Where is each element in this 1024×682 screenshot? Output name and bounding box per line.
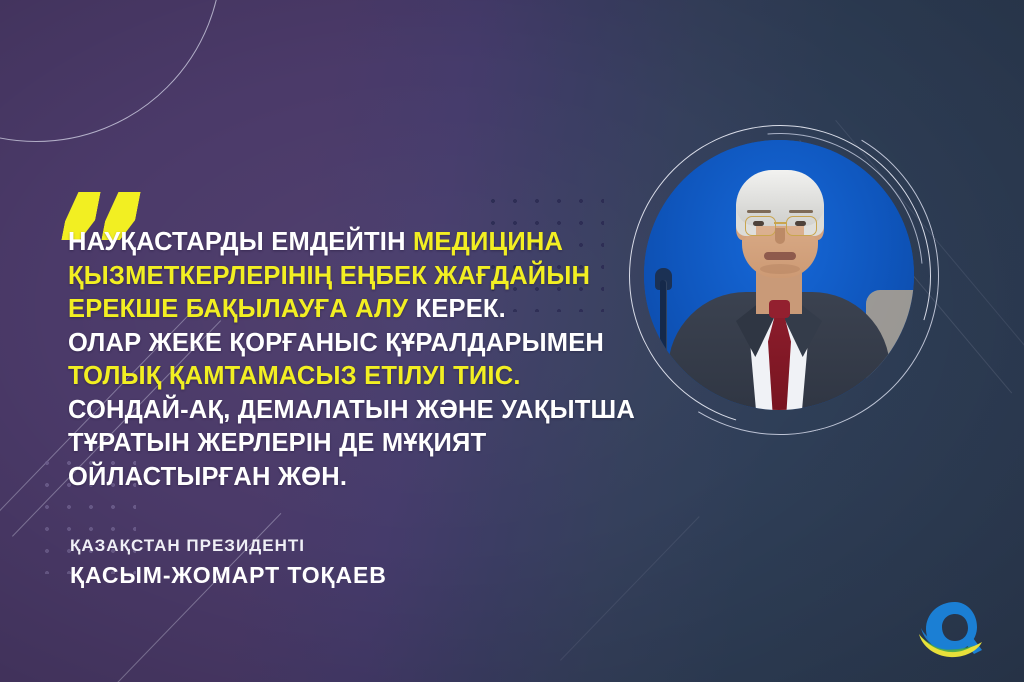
quote-line-7: ТҰРАТЫН ЖЕРЛЕРІН ДЕ МҰҚИЯТ (68, 427, 628, 461)
diagonal-line-6 (560, 516, 700, 661)
quote-line-1: НАУҚАСТАРДЫ ЕМДЕЙТІН МЕДИЦИНА (68, 226, 628, 260)
photo-mouth (764, 252, 796, 260)
quote-line-5: ТОЛЫҚ ҚАМТАМАСЫЗ ЕТІЛУІ ТИІС. (68, 360, 628, 394)
photo-eyeglass-bridge (774, 222, 786, 224)
photo-eyebrow-left (747, 210, 771, 213)
quote-line-4-white: ОЛАР ЖЕКЕ ҚОРҒАНЫС ҚҰРАЛДАРЫМЕН (68, 329, 604, 357)
photo-chin-shadow (760, 264, 800, 274)
attribution-block: ҚАЗАҚСТАН ПРЕЗИДЕНТІ ҚАСЫМ-ЖОМАРТ ТОҚАЕВ (70, 534, 387, 591)
attribution-role: ҚАЗАҚСТАН ПРЕЗИДЕНТІ (70, 534, 387, 558)
quote-line-7-white: ТҰРАТЫН ЖЕРЛЕРІН ДЕ МҰҚИЯТ (68, 429, 486, 457)
photo-eyebrow-right (789, 210, 813, 213)
quote-line-2-highlight: ҚЫЗМЕТКЕРЛЕРІНІҢ ЕҢБЕК ЖАҒДАЙЫН (68, 262, 590, 290)
quote-line-8-white: ОЙЛАСТЫРҒАН ЖӨН. (68, 463, 347, 491)
photo-microphone-stand (660, 280, 667, 400)
quote-line-6-white: СОНДАЙ-АҚ, ДЕМАЛАТЫН ЖӘНЕ УАҚЫТША (68, 396, 635, 424)
quote-line-2: ҚЫЗМЕТКЕРЛЕРІНІҢ ЕҢБЕК ЖАҒДАЙЫН (68, 260, 628, 294)
photo-eyeglass-left (745, 216, 776, 236)
arc-decoration-top-left (0, 0, 222, 142)
photo-nose (775, 228, 785, 244)
quote-poster: НАУҚАСТАРДЫ ЕМДЕЙТІН МЕДИЦИНА ҚЫЗМЕТКЕРЛ… (0, 0, 1024, 682)
portrait-photo (644, 140, 914, 410)
quote-line-4: ОЛАР ЖЕКЕ ҚОРҒАНЫС ҚҰРАЛДАРЫМЕН (68, 327, 628, 361)
quote-line-1-white: НАУҚАСТАРДЫ ЕМДЕЙТІН (68, 228, 413, 256)
attribution-name: ҚАСЫМ-ЖОМАРТ ТОҚАЕВ (70, 560, 387, 591)
quote-line-8: ОЙЛАСТЫРҒАН ЖӨН. (68, 461, 628, 495)
quote-line-6: СОНДАЙ-АҚ, ДЕМАЛАТЫН ЖӘНЕ УАҚЫТША (68, 394, 628, 428)
photo-tie-knot (769, 300, 790, 318)
quote-line-3-white: КЕРЕК. (416, 295, 506, 323)
logo-icon (912, 598, 996, 664)
quote-line-1-highlight: МЕДИЦИНА (413, 228, 563, 256)
photo-eyeglass-right (786, 216, 817, 236)
q-swoosh-logo[interactable] (912, 598, 996, 664)
quote-line-3-highlight: ЕРЕКШЕ БАҚЫЛАУҒА АЛУ (68, 295, 416, 323)
quote-text-block: НАУҚАСТАРДЫ ЕМДЕЙТІН МЕДИЦИНА ҚЫЗМЕТКЕРЛ… (68, 226, 628, 494)
quote-line-3: ЕРЕКШЕ БАҚЫЛАУҒА АЛУ КЕРЕК. (68, 293, 628, 327)
portrait-container (621, 117, 937, 433)
quote-line-5-highlight: ТОЛЫҚ ҚАМТАМАСЫЗ ЕТІЛУІ ТИІС. (68, 362, 521, 390)
